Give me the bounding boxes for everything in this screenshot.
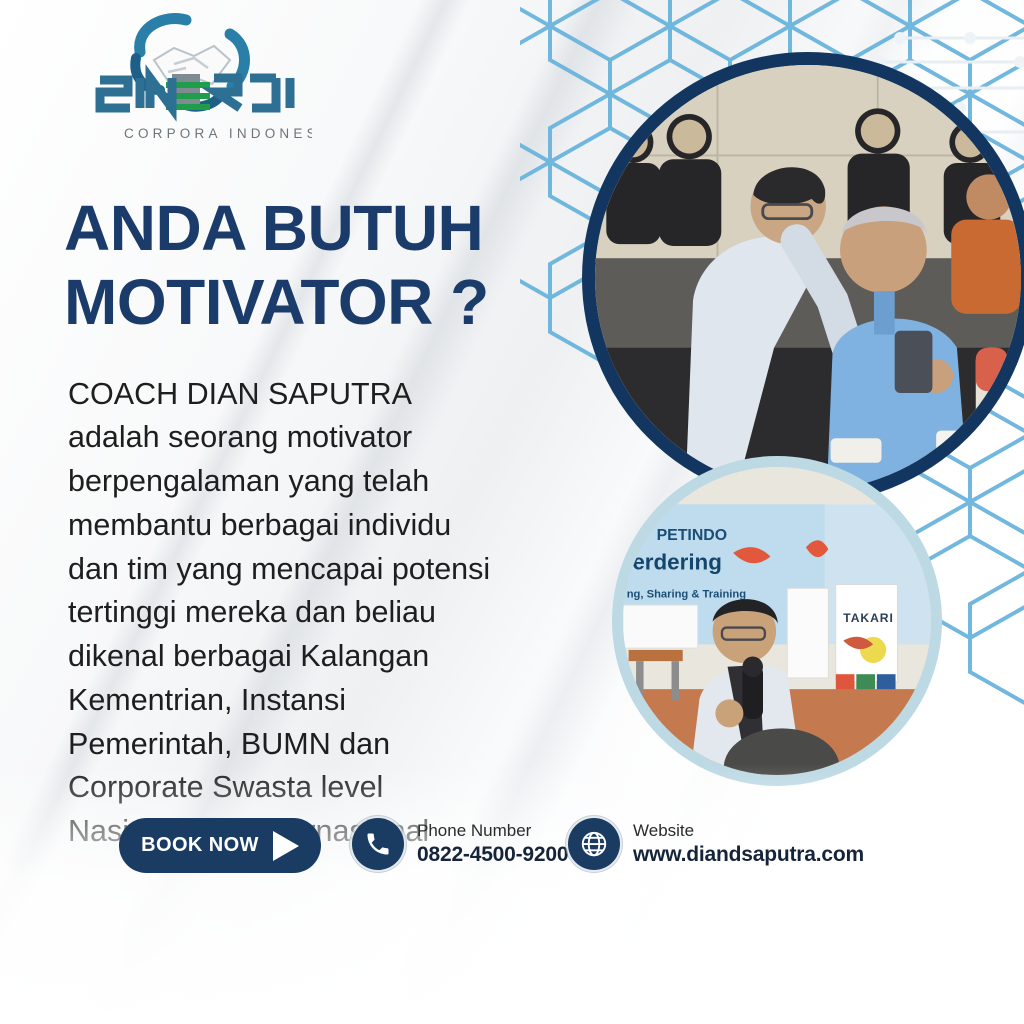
banner-text-petindo: PETINDO bbox=[657, 527, 728, 544]
banner-text-erdering: erdering bbox=[632, 550, 722, 575]
headline-line-1: ANDA BUTUH bbox=[64, 191, 604, 265]
seminar-coaching-photo bbox=[582, 52, 1024, 504]
description-paragraph: COACH DIAN SAPUTRA adalah seorang motiva… bbox=[68, 373, 508, 854]
headline-line-2: MOTIVATOR ? bbox=[64, 265, 604, 339]
contact-phone[interactable]: Phone Number 0822-4500-9200 bbox=[352, 818, 568, 870]
company-logo: CORPORA INDONESIA bbox=[62, 8, 312, 144]
phone-label: Phone Number bbox=[417, 820, 568, 842]
phone-value: 0822-4500-9200 bbox=[417, 842, 568, 868]
phone-icon bbox=[352, 818, 404, 870]
product-text-takari: TAKARI bbox=[843, 611, 893, 625]
poster-canvas: CORPORA INDONESIA ANDA BUTUH MOTIVATOR ?… bbox=[0, 0, 1024, 1024]
globe-icon bbox=[568, 818, 620, 870]
play-arrow-icon bbox=[273, 831, 299, 861]
contact-website[interactable]: Website www.diandsaputra.com bbox=[568, 818, 864, 870]
logo-tagline: CORPORA INDONESIA bbox=[124, 126, 312, 141]
website-value: www.diandsaputra.com bbox=[633, 842, 864, 868]
speaker-microphone-photo: PETINDO erdering ng, Sharing & Training … bbox=[612, 456, 942, 786]
book-now-label: BOOK NOW bbox=[141, 834, 259, 857]
website-label: Website bbox=[633, 820, 864, 842]
book-now-button[interactable]: BOOK NOW bbox=[119, 818, 321, 873]
page-title: ANDA BUTUH MOTIVATOR ? bbox=[64, 191, 604, 339]
banner-text-subtitle: ng, Sharing & Training bbox=[627, 589, 747, 601]
